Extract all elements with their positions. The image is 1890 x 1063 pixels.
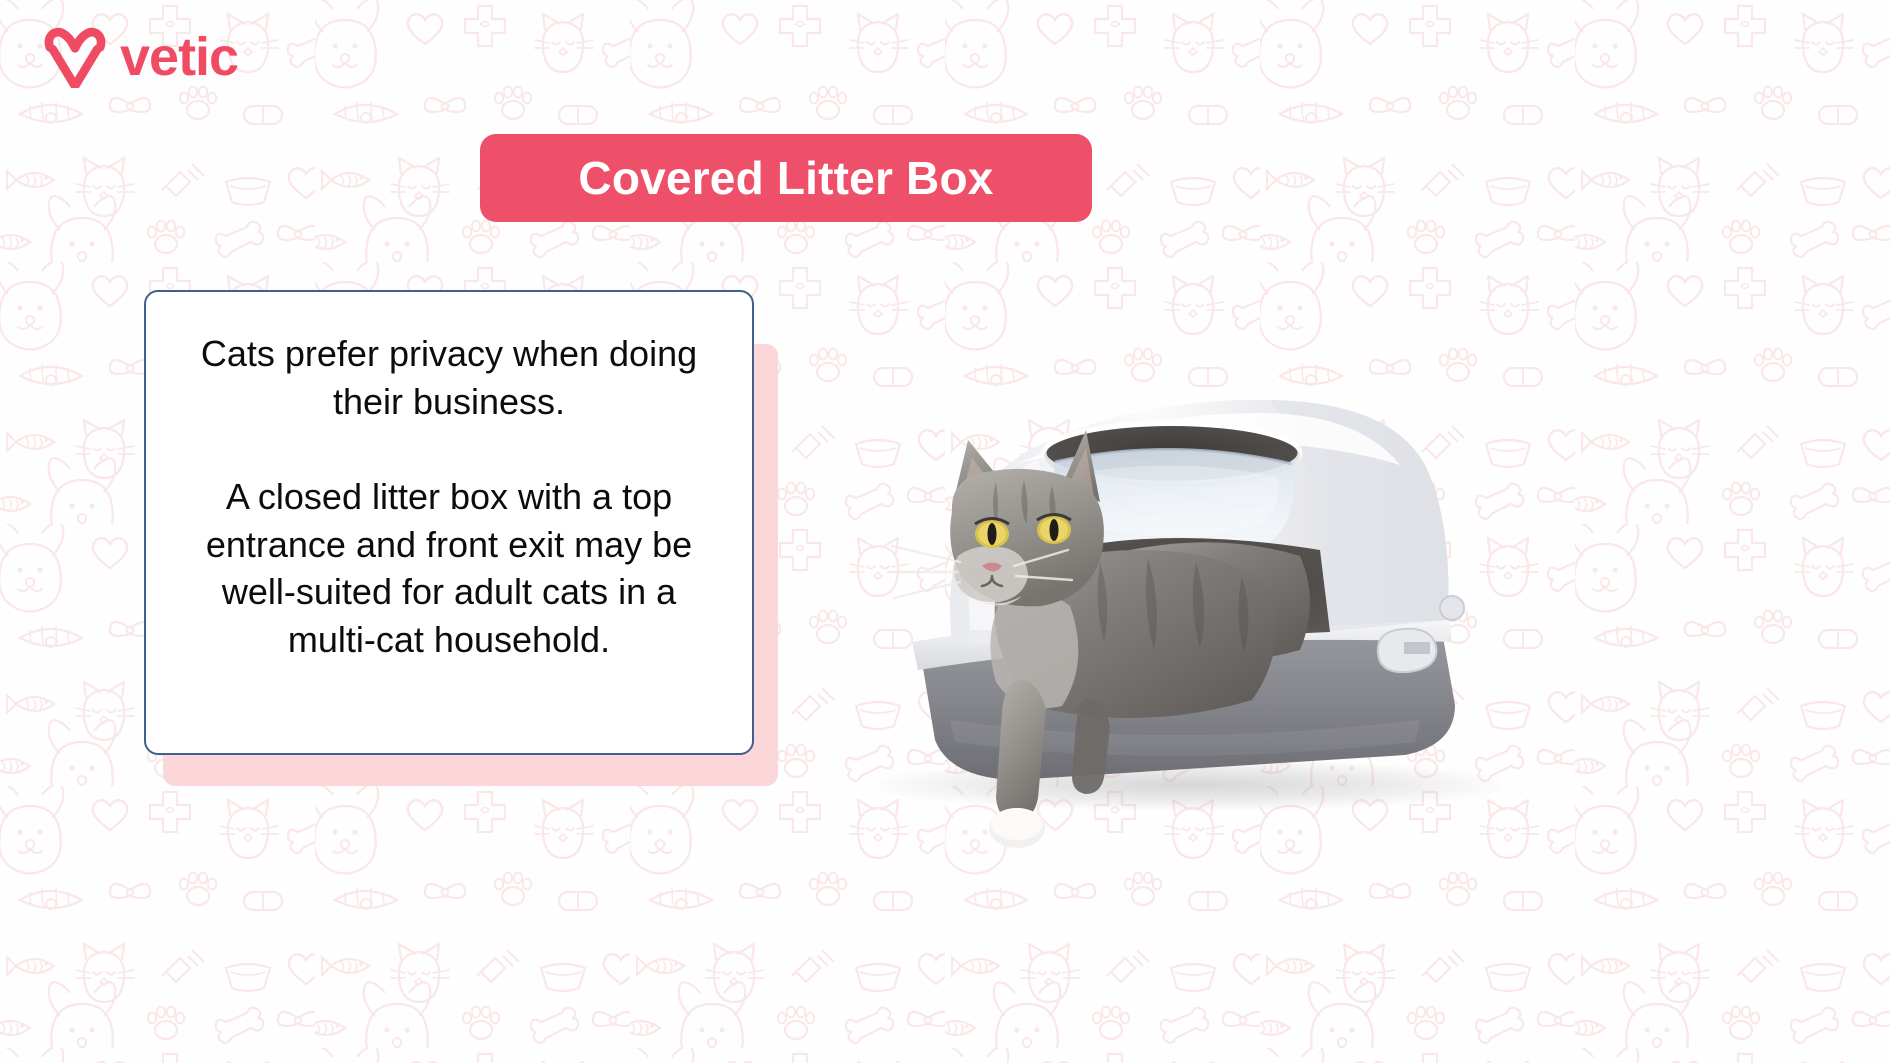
heart-v-logo-icon <box>44 26 106 88</box>
page-title: Covered Litter Box <box>578 151 993 205</box>
title-banner: Covered Litter Box <box>480 134 1092 222</box>
info-paragraph-1: Cats prefer privacy when doing their bus… <box>176 330 722 425</box>
brand-name: vetic <box>120 30 238 84</box>
info-card: Cats prefer privacy when doing their bus… <box>144 290 754 755</box>
vetic-logo[interactable]: vetic <box>44 26 238 88</box>
covered-litter-box-photo <box>800 250 1500 850</box>
infographic-page: vetic Covered Litter Box Cats prefer pri… <box>0 0 1890 1063</box>
info-paragraph-2: A closed litter box with a top entrance … <box>176 473 722 663</box>
